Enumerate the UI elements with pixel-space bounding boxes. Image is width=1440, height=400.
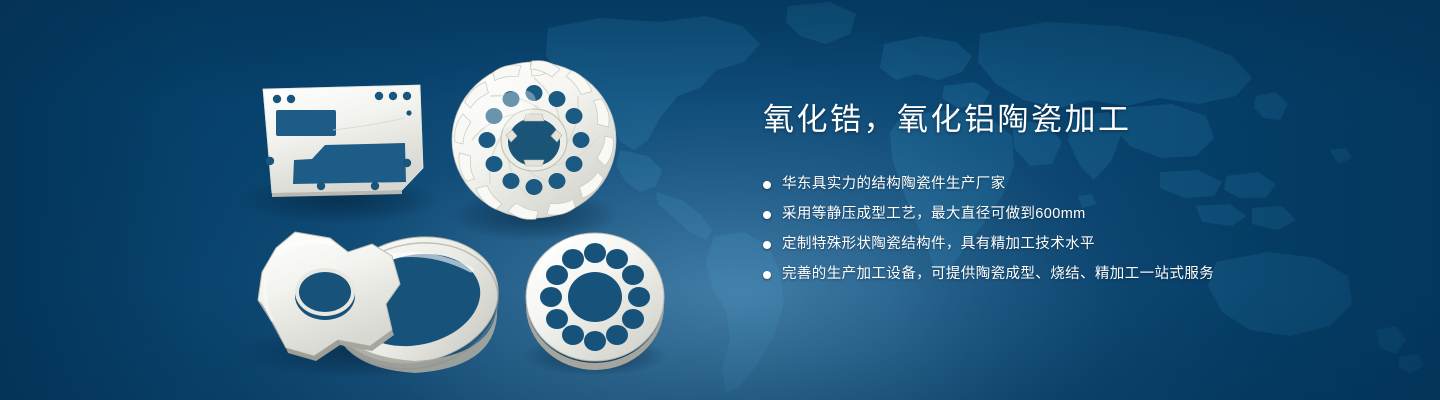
hero-banner: 氧化锆，氧化铝陶瓷加工 华东具实力的结构陶瓷件生产厂家 采用等静压成型工艺，最大…: [0, 0, 1440, 400]
feature-text: 华东具实力的结构陶瓷件生产厂家: [782, 173, 1006, 196]
bullet-dot-icon: [763, 271, 771, 279]
feature-list: 华东具实力的结构陶瓷件生产厂家 采用等静压成型工艺，最大直径可做到600mm 定…: [763, 173, 1323, 286]
bullet-dot-icon: [763, 241, 771, 249]
list-item: 采用等静压成型工艺，最大直径可做到600mm: [763, 203, 1323, 226]
list-item: 华东具实力的结构陶瓷件生产厂家: [763, 173, 1323, 196]
list-item: 定制特殊形状陶瓷结构件，具有精加工技术水平: [763, 233, 1323, 256]
product-photo-group: [0, 0, 720, 400]
list-item: 完善的生产加工设备，可提供陶瓷成型、烧结、精加工一站式服务: [763, 263, 1323, 286]
feature-text: 完善的生产加工设备，可提供陶瓷成型、烧结、精加工一站式服务: [782, 263, 1214, 286]
banner-copy: 氧化锆，氧化铝陶瓷加工 华东具实力的结构陶瓷件生产厂家 采用等静压成型工艺，最大…: [763, 104, 1323, 293]
banner-headline: 氧化锆，氧化铝陶瓷加工: [763, 104, 1323, 135]
feature-text: 定制特殊形状陶瓷结构件，具有精加工技术水平: [782, 233, 1095, 256]
bullet-dot-icon: [763, 181, 771, 189]
feature-text: 采用等静压成型工艺，最大直径可做到600mm: [782, 203, 1086, 226]
ceramic-valve-plate: [526, 233, 664, 370]
ceramic-mounting-plate: [263, 85, 423, 197]
bullet-dot-icon: [763, 211, 771, 219]
